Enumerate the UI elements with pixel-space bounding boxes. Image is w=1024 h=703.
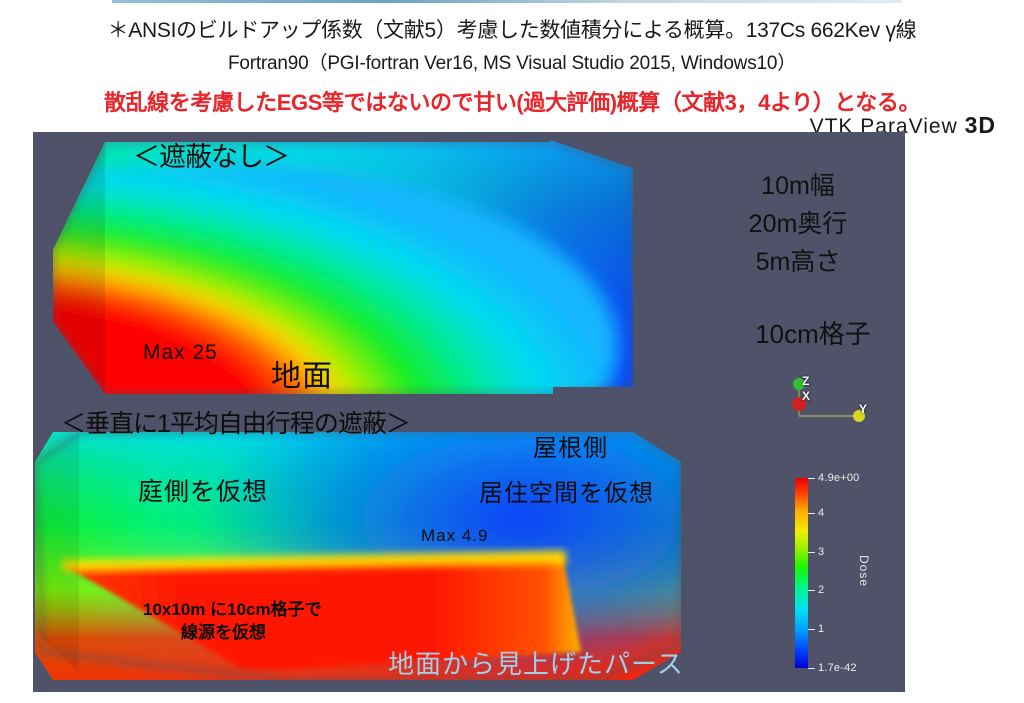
- axis-label-y: Y: [859, 402, 867, 416]
- label-source-grid-line2: 線源を仮想: [181, 624, 266, 641]
- color-bar-tick-mark: [808, 552, 815, 553]
- header-line-2: Fortran90（PGI-fortran Ver16, MS Visual S…: [0, 48, 1024, 75]
- color-bar-tick-mark: [808, 478, 815, 479]
- color-bar-tick-label: 1.7e-42: [818, 662, 857, 674]
- label-max-dose-top: Max 25: [143, 342, 218, 363]
- orientation-axes-icon: [781, 374, 871, 436]
- toolchain-3d-label: 3D: [965, 112, 996, 138]
- color-bar-tick-label: 3: [818, 546, 824, 558]
- axis-label-z: Z: [802, 374, 809, 388]
- color-bar-title: Dose: [857, 555, 871, 587]
- paraview-render-view[interactable]: ＜遮蔽なし＞ Max 25 地面 ＜垂直に1平均自由行程の遮蔽＞ 庭側を仮想 屋…: [33, 132, 905, 692]
- color-bar-tick-mark: [808, 668, 815, 669]
- label-perspective-note: 地面から見上げたパース: [388, 651, 684, 677]
- label-roof-side: 屋根側: [533, 437, 608, 461]
- label-source-grid-line1: 10x10m に10cm格子で: [143, 601, 322, 618]
- label-shielding-1mfp: ＜垂直に1平均自由行程の遮蔽＞: [61, 412, 410, 437]
- label-ground-top: 地面: [271, 362, 333, 392]
- label-living-space: 居住空間を仮想: [479, 482, 654, 506]
- label-grid-size: 10cm格子: [733, 314, 893, 351]
- color-bar-tick-mark: [808, 629, 815, 630]
- color-bar-tick-mark: [808, 590, 815, 591]
- label-max-dose-bottom: Max 4.9: [421, 527, 488, 544]
- label-dimension-depth: 20m奥行: [723, 204, 873, 240]
- color-bar-tick-label: 1: [818, 623, 824, 635]
- orientation-axes-widget[interactable]: Z X Y: [781, 374, 871, 436]
- color-bar-gradient: [795, 478, 808, 668]
- color-bar-tick-label: 2: [818, 584, 824, 596]
- axis-label-x: X: [802, 389, 810, 403]
- label-no-shielding: ＜遮蔽なし＞: [133, 144, 289, 171]
- color-bar-tick-mark: [808, 513, 815, 514]
- scalar-color-bar[interactable]: 4.9e+0043211.7e-42 Dose: [785, 470, 905, 680]
- label-dimension-width: 10m幅: [723, 166, 873, 202]
- color-bar-tick-label: 4: [818, 507, 824, 519]
- label-garden-side: 庭側を仮想: [138, 480, 268, 505]
- color-bar-tick-label: 4.9e+00: [818, 472, 859, 484]
- top-decorative-strip: [112, 0, 902, 3]
- header-line-1: ＊ANSIのビルドアップ係数（文献5）考慮した数値積分による概算。137Cs 6…: [0, 14, 1024, 44]
- label-dimension-height: 5m高さ: [723, 242, 873, 278]
